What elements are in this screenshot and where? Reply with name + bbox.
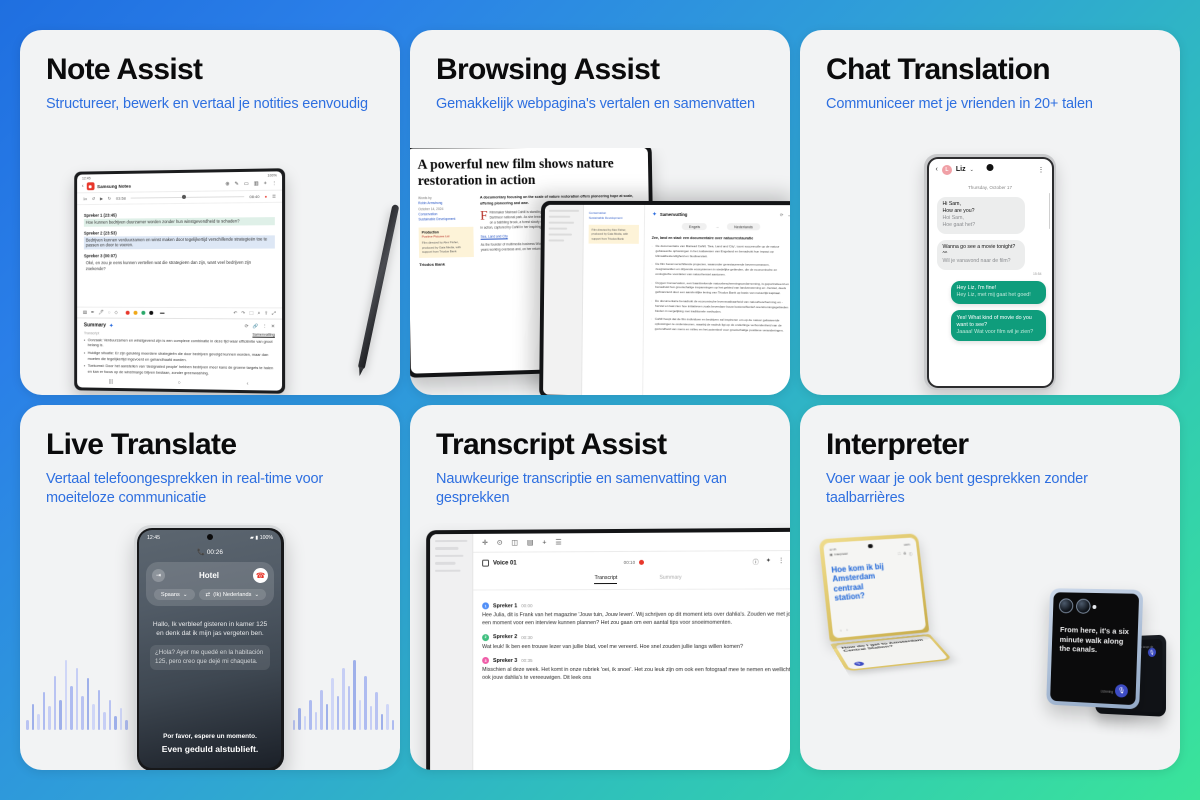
refresh-icon[interactable]: ⟳ — [245, 324, 249, 330]
message-translated: Wil je vanavond naar de film? — [943, 258, 1019, 265]
wifi-icon: ▰ — [250, 535, 254, 541]
waveform-bar — [359, 700, 362, 730]
split-view-icon[interactable]: ◫ — [511, 539, 518, 547]
waveform-bar — [326, 704, 329, 730]
summary-heading: Zee, land en stad: een documentaire over… — [652, 236, 790, 241]
chat-header: ‹ L Liz ⌄ ⋮ — [929, 159, 1052, 179]
forward-10-icon[interactable]: ↻ — [108, 196, 111, 201]
app-name: Interpreter — [834, 551, 848, 556]
player-scrubber[interactable] — [131, 196, 245, 199]
card-subtitle: Structureer, bewerk en vertaal je notiti… — [46, 95, 374, 114]
waveform-bar — [353, 660, 356, 730]
waveform-bar — [309, 700, 312, 730]
waveform-bar — [43, 692, 46, 730]
back-icon[interactable]: ‹ — [936, 166, 938, 173]
more-icon[interactable]: ⋮ — [778, 557, 784, 566]
speaker-label: Spreker 3 (00:07) — [84, 253, 275, 259]
toolbar[interactable]: ✛ ⊙ ◫ ▤ + ☰ — [473, 532, 790, 553]
article-tag: Sustainable Development — [589, 216, 639, 221]
call-controls-row: ⇥ Hotel ☎ — [152, 568, 268, 583]
color-swatch-orange[interactable] — [133, 310, 137, 314]
speaker-time: 00:30 — [521, 635, 532, 640]
color-swatch-red[interactable] — [126, 310, 130, 314]
back-10-icon[interactable]: ↺ — [92, 196, 95, 201]
app-sidebar[interactable] — [430, 534, 473, 770]
exit-call-ui-icon[interactable]: ⇥ — [152, 569, 165, 582]
waveform-left — [26, 660, 128, 730]
sidebar-line — [549, 210, 579, 212]
close-icon[interactable]: ✕ — [271, 324, 275, 330]
sponsor-name: Triodos Bank — [419, 261, 474, 267]
speaker-text: Wat leuk! Ik ben een trouwe lezer van ju… — [482, 643, 790, 651]
device-screen-cover: From here, it's a six minute walk along … — [1050, 592, 1139, 705]
player-elapsed: 03:58 — [116, 196, 126, 201]
answer-text: From here, it's a six minute walk along … — [1059, 625, 1130, 656]
mic-icon[interactable]: 🎙 — [1115, 684, 1128, 698]
waveform-bar — [337, 696, 340, 730]
list-icon[interactable]: ☰ — [555, 538, 561, 546]
recents-icon[interactable]: ||| — [109, 379, 113, 385]
summary-panel: ✦ Samenvatting ⟳ ⌄ Engels → Nederlands — [643, 205, 790, 395]
article-tag[interactable]: Sustainable Development — [418, 217, 473, 223]
summary-tab-transcript[interactable]: Transcript — [84, 331, 99, 336]
waveform-bar — [304, 716, 307, 730]
message-translated: Hey Liz, met mij gaat het goed! — [957, 292, 1040, 299]
scrollbar[interactable] — [1049, 193, 1050, 229]
browser-sidebar[interactable] — [543, 205, 584, 395]
line-width-icon[interactable]: ▬ — [160, 310, 164, 315]
device-screen: 12:45 ▰ ▮ 100% 📞 00:26 — [139, 530, 281, 768]
sidebar-line — [435, 569, 461, 571]
voice-file-icon — [482, 560, 489, 567]
waveform-bar — [370, 706, 373, 730]
flip-cover-screen: From here, it's a six minute walk along … — [1046, 588, 1143, 709]
app-name: Samsung Notes — [97, 183, 131, 188]
message-original: Yes! What kind of movie do you want to s… — [957, 315, 1040, 329]
samsung-notes-logo-icon — [86, 182, 94, 190]
undo-arrow-icon[interactable]: ↶ — [233, 310, 237, 316]
eraser-icon[interactable]: ◌ — [108, 310, 111, 315]
original-line: ¿Hola? Ayer me quedé en la habitación 12… — [150, 645, 270, 671]
card-interpreter[interactable]: Interpreter Voer waar je ook bent gespre… — [800, 405, 1180, 770]
production-box: Film directed by Alex Fisher, produced b… — [589, 224, 639, 244]
sidebar-line — [435, 540, 467, 543]
speaker-avatar: 2 — [482, 634, 489, 641]
mic-icon[interactable]: 🎙 — [1148, 648, 1156, 658]
settings-icon[interactable]: ⚙ — [903, 551, 906, 556]
screen-actions[interactable]: ⛶ ⚙ ⓘ — [898, 551, 912, 557]
production-lines: Film directed by Alex Fisher, produced b… — [592, 227, 629, 240]
add-icon[interactable]: + — [264, 181, 267, 187]
card-header: Live Translate Vertaal telefoongesprekke… — [20, 405, 400, 508]
waveform-bar — [375, 692, 378, 730]
note-assist-media: 12:45 100% ‹ Samsung Notes ⊕ ✎ ▭ ▥ + — [20, 148, 400, 395]
speaker-time: 00:35 — [521, 658, 532, 663]
device-screen: 12:45 100% ‹ Samsung Notes ⊕ ✎ ▭ ▥ + — [77, 171, 282, 390]
waveform-bar — [92, 704, 95, 730]
article-sidebar: Words by Robin Armstrong October 14, 202… — [418, 196, 474, 267]
foldable-device-mockup: 12:45 100% ‹ Samsung Notes ⊕ ✎ ▭ ▥ + — [74, 168, 285, 394]
mic-icon[interactable]: 🎙 — [852, 661, 864, 666]
interpreter-media: 12:45 100% ▤ Interpreter ⛶ ⚙ ⓘ Hoe kom — [800, 523, 1180, 770]
fullscreen-icon[interactable]: ⛶ — [898, 551, 901, 556]
card-note-assist[interactable]: Note Assist Structureer, bewerk en verta… — [20, 30, 400, 395]
play-icon[interactable]: ▶ — [100, 196, 103, 201]
sidebar-line — [435, 555, 463, 558]
sidebar-line — [435, 562, 456, 564]
call-control-card: ⇥ Hotel ☎ Spaans ⌄ ⇄ — [146, 562, 274, 606]
app-bar-actions[interactable]: ⊕ ✎ ▭ ▥ + ⋮ — [225, 181, 277, 188]
footer-original: Por favor, espere un momento. — [139, 733, 281, 740]
summary-bullet: De documentaire van Mairead Cahill, 'Sea… — [652, 244, 790, 259]
message-translated: Hoi Sam, Hoe gaat het? — [943, 215, 1019, 229]
speaker-row: 1 Spreker 1 00:00 — [482, 601, 790, 609]
color-swatch-green[interactable] — [141, 310, 145, 314]
card-header: Transcript Assist Nauwkeurige transcript… — [410, 405, 790, 508]
device-screen: ✛ ⊙ ◫ ▤ + ☰ Voice 01 00:10 — [430, 532, 790, 770]
waveform-bar — [293, 720, 296, 730]
status-battery: ▰ ▮ 100% — [250, 535, 273, 541]
speaker-time: 00:00 — [521, 603, 532, 608]
swap-arrow-icon[interactable]: → — [715, 224, 719, 229]
summary-bullet: Cahill hoopt dat de film individuen en b… — [651, 317, 790, 333]
file-name: Voice 01 — [493, 560, 517, 566]
summary-header: Summary ✦ ⟳ 🔗 ⋮ ✕ — [84, 322, 275, 330]
language-from-select[interactable]: Spaans ⌄ — [154, 589, 195, 600]
card-chat-translation[interactable]: Chat Translation Communiceer met je vrie… — [800, 30, 1180, 395]
waveform-bar — [315, 712, 318, 730]
sidebar-line — [549, 234, 573, 236]
call-transcript: Hallo, Ik verbleef gisteren in kamer 125… — [139, 606, 281, 670]
phone-mockup: ‹ L Liz ⌄ ⋮ Thursday, October 17 Hi Sam,… — [924, 154, 1056, 390]
grid-icon[interactable]: ▥ — [254, 181, 259, 187]
page-title: Live Translate — [46, 429, 374, 461]
waveform-bar — [364, 676, 367, 730]
android-nav-bar[interactable]: ||| ○ ‹ — [77, 377, 282, 391]
waveform-bar — [54, 676, 57, 730]
status-time: 12:45 — [829, 547, 836, 551]
undo-icon[interactable]: ⊙ — [497, 539, 503, 547]
back-icon[interactable]: ‹ — [82, 183, 84, 189]
message-original: Hey Liz, I'm fine! — [957, 285, 1040, 292]
expand-icon[interactable]: ⤢ — [272, 311, 276, 316]
summary-bullet: De film bevat verschillende projecten, w… — [651, 262, 790, 277]
transcript-tabs[interactable]: Transcript Summary — [473, 570, 790, 590]
summary-panel: Summary ✦ ⟳ 🔗 ⋮ ✕ Transcript Samenvat — [77, 317, 282, 379]
waveform-bar — [392, 720, 395, 730]
status-time: 12:45 — [147, 535, 160, 541]
camera-lens-icon — [1059, 598, 1074, 613]
speaker-text: Bedrijven kunnen verduurzamen en winst m… — [84, 235, 275, 249]
player-total: 08:40 — [249, 194, 259, 199]
new-note-icon[interactable]: + — [542, 539, 546, 546]
summary-bullet: Oorzaak: Verduurzamen en winstgevend zij… — [84, 338, 275, 350]
waveform-bar — [70, 686, 73, 730]
waveform-bar — [386, 704, 389, 730]
front-camera-icon — [868, 544, 873, 549]
lasso-icon[interactable]: ⬚ — [249, 310, 253, 316]
call-duration: 00:26 — [207, 549, 223, 556]
sidebar-line — [549, 239, 564, 241]
flip-phone-blue-mockup: Vanaf hier is het zes minuten lopen lang… — [1046, 588, 1143, 709]
production-lines: Film directed by Alex Fisher, produced b… — [422, 240, 471, 254]
waveform-bar — [342, 668, 345, 730]
footer-translated: Even geduld alstublieft. — [139, 744, 281, 754]
speaker-row: 2 Spreker 2 00:30 — [482, 633, 790, 640]
summary-tab-samenvatting[interactable]: Samenvatting — [252, 332, 274, 337]
production-box: Production Positive Pictures Ltd Film di… — [419, 227, 474, 258]
waveform-bar — [81, 696, 84, 730]
swap-icon: ⇄ — [206, 592, 211, 598]
link-icon[interactable]: 🔗 — [253, 324, 259, 330]
listening-dots-icon: • • — [840, 626, 850, 632]
card-subtitle: Gemakkelijk webpagina's vertalen en same… — [436, 95, 764, 114]
contact-name: Liz — [956, 166, 966, 173]
collapse-icon[interactable]: ⌄ — [787, 212, 790, 217]
flash-icon — [1092, 605, 1096, 609]
more-icon[interactable]: ⋮ — [262, 324, 267, 330]
s-pen-stylus — [358, 204, 400, 370]
device-screen: Conservation Sustainable Development Fil… — [543, 205, 790, 395]
undo-icon[interactable]: ▤ — [83, 309, 87, 315]
flip-upper-half: 12:45 100% ▤ Interpreter ⛶ ⚙ ⓘ Hoe kom — [819, 533, 930, 641]
language-switcher[interactable]: Engels → Nederlands — [652, 223, 790, 230]
transcript-body: Spreker 1 (23:45) Hoe kunnen bedrijven d… — [77, 203, 282, 307]
record-dot-icon — [639, 560, 644, 565]
card-live-translate[interactable]: Live Translate Vertaal telefoongesprekke… — [20, 405, 400, 770]
waveform-bar — [76, 668, 79, 730]
waveform-bar — [320, 690, 323, 730]
speaker-avatar: 3 — [482, 657, 489, 664]
record-status: 00:10 — [624, 560, 645, 565]
summary-header: ✦ Samenvatting ⟳ ⌄ — [652, 211, 790, 218]
page-title: Browsing Assist — [436, 54, 764, 86]
speaker-text: Oké, en zou je eens kunnen vertellen wat… — [84, 259, 275, 273]
call-timer: 📞 00:26 — [139, 548, 281, 556]
flip-phone-yellow-mockup: 12:45 100% ▤ Interpreter ⛶ ⚙ ⓘ Hoe kom — [819, 533, 936, 701]
front-camera-icon — [207, 534, 213, 540]
date-divider: Thursday, October 17 — [929, 185, 1052, 190]
waveform-bar — [348, 686, 351, 730]
image-icon[interactable]: ▭ — [244, 181, 249, 187]
more-icon[interactable]: ⋮ — [272, 181, 277, 187]
page-title: Interpreter — [826, 429, 1154, 461]
zoom-icon[interactable]: ⌕ — [258, 310, 261, 315]
record-icon[interactable]: ● — [265, 194, 267, 199]
phone-bezel: ‹ L Liz ⌄ ⋮ Thursday, October 17 Hi Sam,… — [927, 157, 1054, 388]
ai-sparkle-icon[interactable]: ✦ — [766, 557, 771, 566]
interpreter-icon: ▤ — [830, 552, 833, 556]
more-icon[interactable]: ⋮ — [1038, 166, 1045, 174]
info-icon[interactable]: ⓘ — [753, 557, 759, 566]
waveform-bar — [98, 690, 101, 730]
waveform-bar — [37, 714, 40, 730]
camera-module — [1059, 598, 1091, 614]
camera-lens-icon — [1076, 599, 1091, 614]
article-date: October 14, 2024 — [418, 207, 443, 211]
call-footer: Por favor, espere un momento. Even gedul… — [139, 733, 281, 754]
live-translate-media: 12:45 ▰ ▮ 100% 📞 00:26 — [20, 523, 400, 770]
speaker-text: Hee Julia, dit is Frank van het magazine… — [482, 612, 790, 628]
sidebar-line — [435, 547, 458, 550]
list-icon[interactable]: ☰ — [272, 194, 276, 199]
message-translated: Jaaaa! Wat voor film wil je zien? — [957, 329, 1040, 336]
sidebar-line — [549, 216, 570, 218]
waveform-bar — [109, 700, 112, 730]
page-title: Note Assist — [46, 54, 374, 86]
device-screen-lower: How do I get to Amsterdam Central Statio… — [834, 635, 947, 669]
speaker-row: 3 Spreker 3 00:35 — [482, 657, 790, 664]
mic-label: Listening — [1100, 689, 1113, 694]
pen-icon[interactable]: ✎ — [235, 181, 239, 187]
summary-title: Samenvatting — [660, 212, 687, 217]
translated-line: Hallo, Ik verbleef gisteren in kamer 125… — [150, 620, 270, 639]
waveform-bar — [48, 706, 51, 730]
transcript-feed: 1 Spreker 1 00:00 Hee Julia, dit is Fran… — [473, 589, 790, 770]
share-icon[interactable]: ⇪ — [264, 310, 268, 316]
question-translated: Hoe kom ik bij Amsterdam centraal statio… — [831, 561, 895, 604]
transcript-main: ✛ ⊙ ◫ ▤ + ☰ Voice 01 00:10 — [473, 532, 790, 770]
redo-arrow-icon[interactable]: ↷ — [241, 310, 245, 316]
card-transcript-assist[interactable]: Transcript Assist Nauwkeurige transcript… — [410, 405, 790, 770]
article-meta: Words by Robin Armstrong October 14, 202… — [418, 196, 473, 223]
message-bubble-incoming: Hi Sam, How are you? Hoi Sam, Hoe gaat h… — [937, 197, 1025, 234]
transcript-assist-media: ✛ ⊙ ◫ ▤ + ☰ Voice 01 00:10 — [410, 523, 790, 770]
record-time: 00:10 — [624, 560, 636, 565]
inline-link[interactable]: Sea, Land and City — [481, 234, 508, 238]
card-header: Browsing Assist Gemakkelijk webpagina's … — [410, 30, 790, 114]
chevron-down-icon: ⌄ — [183, 592, 188, 598]
summary-actions[interactable]: ⟳ 🔗 ⋮ ✕ — [245, 324, 275, 330]
card-subtitle: Voer waar je ook bent gesprekken zonder … — [826, 470, 1154, 508]
recording-header: Voice 01 00:10 ⓘ ✦ ⋮ ✕ — [473, 551, 790, 572]
refresh-icon[interactable]: ⟳ — [780, 212, 783, 217]
chevron-down-icon: ⌄ — [254, 592, 259, 598]
waveform-bar — [26, 720, 29, 730]
card-header: Chat Translation Communiceer met je vrie… — [800, 30, 1180, 114]
highlighter-icon[interactable]: 🖊 — [98, 309, 104, 315]
language-to[interactable]: Nederlands — [727, 223, 760, 230]
article-preview-column: Conservation Sustainable Development Fil… — [582, 205, 645, 395]
language-to-select[interactable]: ⇄ (Ik) Nederlands ⌄ — [199, 589, 267, 600]
sidebar-line — [549, 228, 567, 230]
sidebar-line — [549, 222, 575, 224]
summary-actions[interactable]: ⟳ ⌄ — [780, 212, 790, 217]
waveform-bar — [114, 716, 117, 730]
summary-bullet: Oxygen Conservation, een baanbrekende na… — [651, 281, 790, 297]
waveform-bar — [298, 708, 301, 730]
ai-sparkle-icon: ✦ — [652, 211, 657, 218]
rewind-icon[interactable]: 1x — [83, 196, 87, 201]
language-selectors[interactable]: Spaans ⌄ ⇄ (Ik) Nederlands ⌄ — [152, 589, 268, 600]
page-title: Transcript Assist — [436, 429, 764, 461]
card-header: Note Assist Structureer, bewerk en verta… — [20, 30, 400, 114]
message-timestamp: 15:54 — [929, 272, 1042, 276]
help-icon[interactable]: ⓘ — [909, 551, 913, 556]
back-nav-icon[interactable]: ‹ — [247, 381, 249, 387]
phone-icon: 📞 — [197, 549, 205, 556]
language-from[interactable]: Engels — [682, 223, 707, 230]
card-header: Interpreter Voer waar je ook bent gespre… — [800, 405, 1180, 508]
waveform-bar — [381, 714, 384, 730]
page-title: Chat Translation — [826, 54, 1154, 86]
message-original: Wanna go see a movie tonight? ^^ — [943, 244, 1019, 258]
tablet-front-mockup: Conservation Sustainable Development Fil… — [539, 201, 790, 395]
speaker-name: Spreker 1 — [493, 603, 517, 609]
waveform-bar — [65, 660, 68, 730]
phone-mockup: 12:45 ▰ ▮ 100% 📞 00:26 — [134, 525, 286, 770]
shape-icon[interactable]: ◇ — [114, 309, 117, 315]
question-original: How do I get to Amsterdam Central Statio… — [841, 638, 930, 653]
summary-bullet: De documentaire benadrukt de economische… — [651, 299, 790, 315]
message-bubble-incoming: Wanna go see a movie tonight? ^^ Wil je … — [937, 240, 1025, 270]
byline-label: Words by — [418, 196, 432, 200]
waveform-bar — [87, 678, 90, 730]
tab-transcript[interactable]: Transcript — [595, 575, 618, 584]
browsing-assist-media: A powerful new film shows nature restora… — [410, 148, 790, 395]
drop-cap: F — [480, 210, 487, 221]
card-subtitle: Vertaal telefoongesprekken in real-time … — [46, 470, 374, 508]
message-original: Hi Sam, How are you? — [943, 201, 1019, 215]
home-icon[interactable]: ○ — [178, 380, 181, 386]
end-call-button[interactable]: ☎ — [253, 568, 268, 583]
device-screen-upper: 12:45 100% ▤ Interpreter ⛶ ⚙ ⓘ Hoe kom — [823, 537, 926, 638]
chevron-down-icon[interactable]: ⌄ — [970, 167, 974, 173]
speaker-text: Hoe kunnen bedrijven duurzamer worden zo… — [84, 217, 275, 226]
status-battery: 100% — [903, 542, 910, 546]
device-screen: ‹ L Liz ⌄ ⋮ Thursday, October 17 Hi Sam,… — [929, 159, 1052, 386]
note-actions[interactable]: ⓘ ✦ ⋮ ✕ — [753, 557, 790, 566]
pen-tool-icon[interactable]: ✒ — [91, 309, 95, 315]
article-headline: A powerful new film shows nature restora… — [417, 155, 638, 188]
card-subtitle: Nauwkeurige transcriptie en samenvatting… — [436, 470, 764, 508]
avatar: L — [942, 165, 952, 175]
feature-card-grid: Note Assist Structureer, bewerk en verta… — [0, 0, 1200, 800]
card-browsing-assist[interactable]: Browsing Assist Gemakkelijk webpagina's … — [410, 30, 790, 395]
chat-translation-media: ‹ L Liz ⌄ ⋮ Thursday, October 17 Hi Sam,… — [800, 148, 1180, 395]
color-swatch-black[interactable] — [149, 310, 153, 314]
message-bubble-outgoing: Hey Liz, I'm fine! Hey Liz, met mij gaat… — [951, 281, 1046, 304]
speaker-avatar: 1 — [482, 602, 489, 609]
speaker-name: Spreker 2 — [493, 634, 517, 640]
waveform-bar — [331, 678, 334, 730]
speaker-text: Misschien al deze week. Het komt in onze… — [482, 667, 790, 683]
waveform-bar — [32, 704, 35, 730]
summary-bullet: Toekomst: Door het aanstellen van 'desig… — [84, 364, 275, 377]
phone-bezel: 12:45 ▰ ▮ 100% 📞 00:26 — [137, 528, 284, 771]
tablet-mockup: ✛ ⊙ ◫ ▤ + ☰ Voice 01 00:10 — [426, 528, 790, 770]
waveform-bar — [103, 712, 106, 730]
card-subtitle: Communiceer met je vrienden in 20+ talen — [826, 95, 1154, 114]
production-sub: Positive Pictures Ltd — [422, 234, 471, 239]
summary-bullet: Huidige situatie: Er zijn gelukkig meerd… — [84, 351, 275, 364]
waveform-right — [293, 660, 395, 730]
ai-sparkle-icon: ✦ — [109, 322, 114, 329]
search-icon[interactable]: ⊕ — [225, 181, 229, 187]
summary-title: Summary — [84, 323, 106, 329]
speaker-name: Spreker 3 — [493, 658, 517, 664]
signal-icon: ▮ — [255, 535, 258, 541]
waveform-bar — [125, 720, 128, 730]
tab-summary[interactable]: Summary — [659, 575, 681, 584]
message-bubble-outgoing: Yes! What kind of movie do you want to s… — [951, 310, 1046, 341]
waveform-bar — [59, 700, 62, 730]
add-icon[interactable]: ✛ — [482, 539, 488, 547]
waveform-bar — [120, 708, 123, 730]
contact-name: Hotel — [165, 571, 253, 580]
layout-icon[interactable]: ▤ — [527, 539, 534, 547]
